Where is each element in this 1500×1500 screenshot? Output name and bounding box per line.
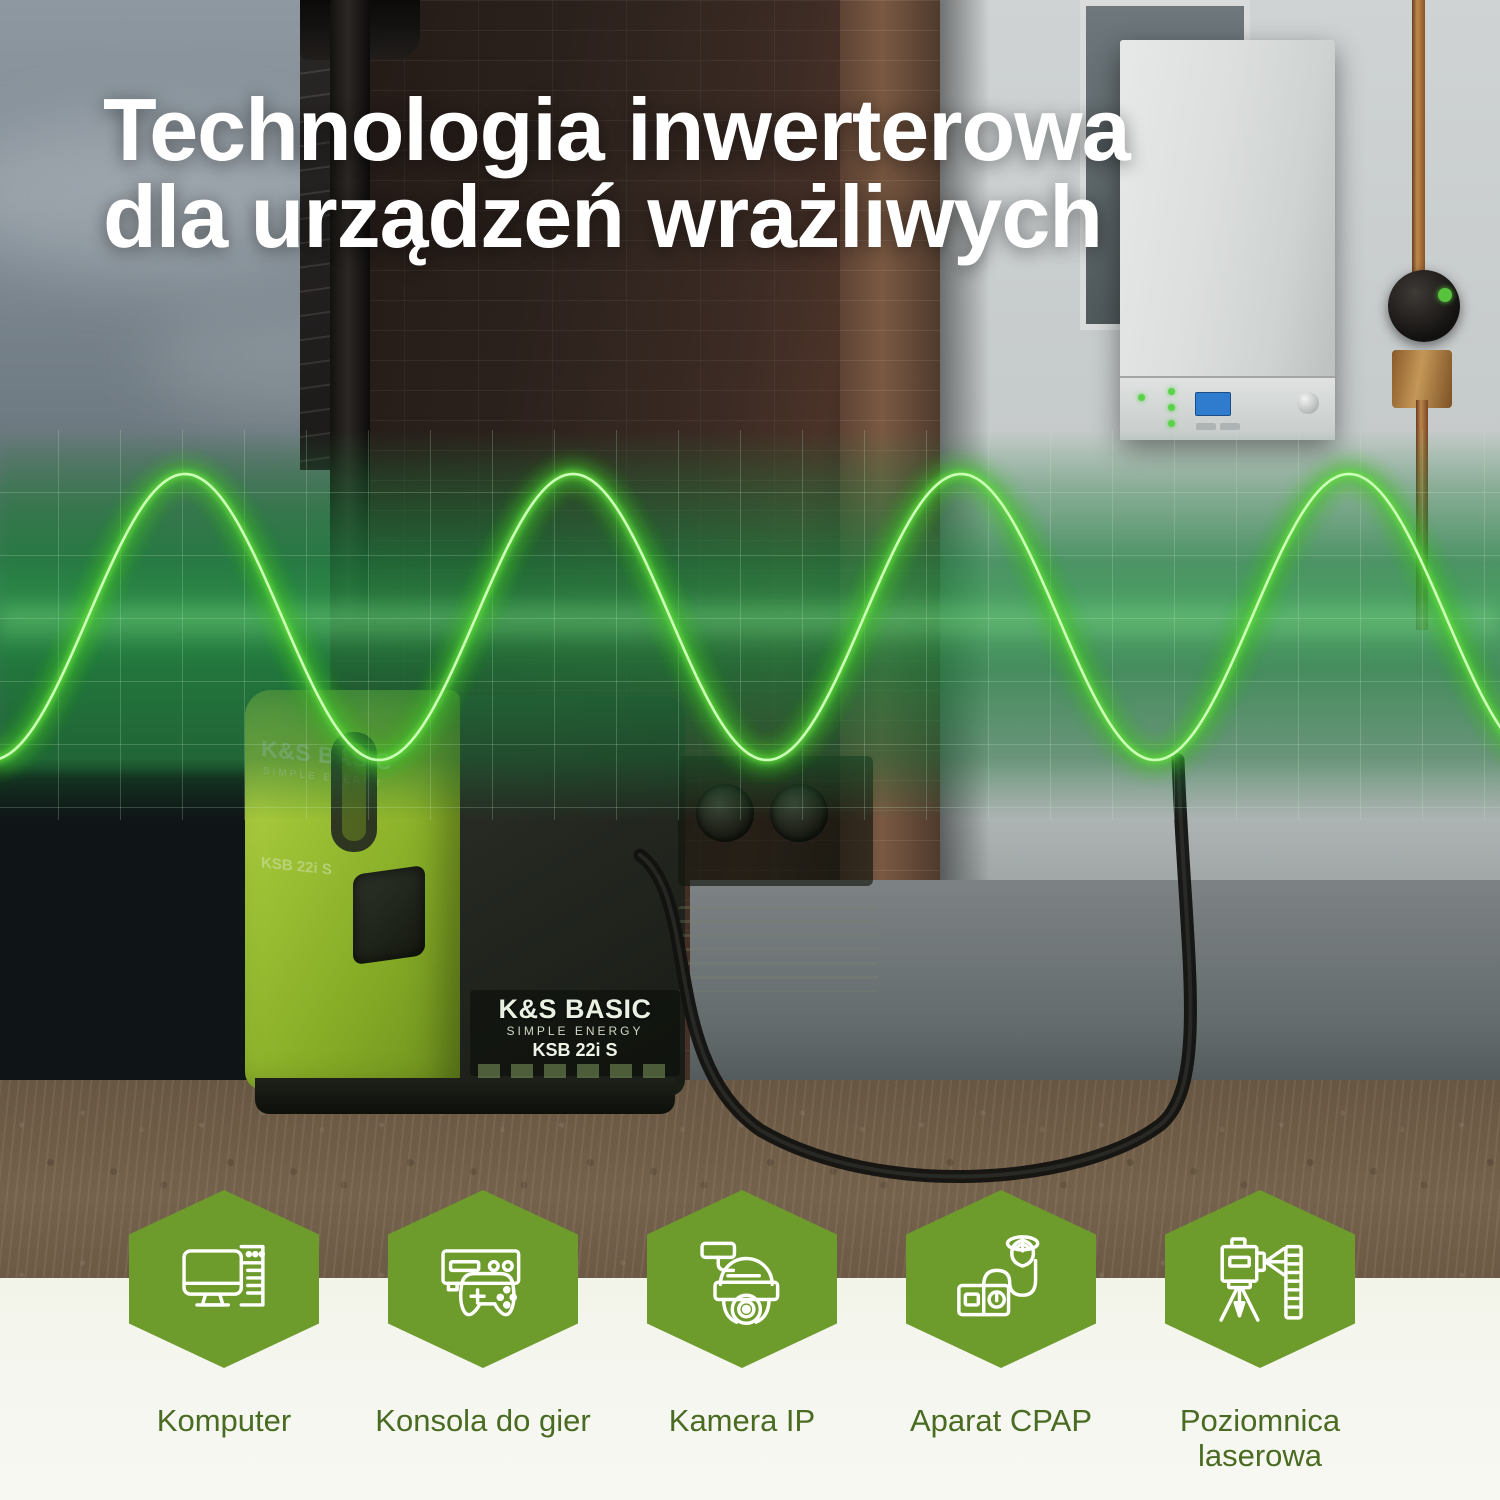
generator-nameplate: K&S BASIC SIMPLE ENERGY KSB 22i S	[470, 990, 680, 1076]
generator-brand: K&S BASIC	[470, 994, 680, 1025]
generator-model: KSB 22i S	[470, 1040, 680, 1061]
device-label: Aparat CPAP	[891, 1404, 1111, 1439]
hexagon-badge	[129, 1190, 319, 1368]
generator-side-model: KSB 22i S	[261, 854, 332, 878]
laser-level-tripod-icon	[1206, 1225, 1314, 1333]
cpap-machine-icon	[947, 1225, 1055, 1333]
device-icon-row: Komputer	[0, 1190, 1500, 1500]
device-label: Komputer	[114, 1404, 334, 1439]
generator-vents	[678, 906, 878, 992]
poster-root: K&S BASIC SIMPLE ENERGY KSB 22i S K&S BA…	[0, 0, 1500, 1500]
generator-grip	[353, 865, 425, 965]
valve-indicator	[1438, 288, 1452, 302]
page-title: Technologia inwerterowa dla urządzeń wra…	[103, 86, 1303, 260]
generator-tagline: SIMPLE ENERGY	[470, 1024, 680, 1038]
device-item-kamera[interactable]: Kamera IP	[647, 1190, 837, 1439]
hexagon-badge	[906, 1190, 1096, 1368]
device-label: Kamera IP	[632, 1404, 852, 1439]
sine-wave-graph	[0, 400, 1500, 850]
device-label: Konsola do gier	[373, 1404, 593, 1439]
device-item-konsola[interactable]: Konsola do gier	[388, 1190, 578, 1439]
sine-wave-path	[0, 474, 1500, 760]
device-item-komputer[interactable]: Komputer	[129, 1190, 319, 1439]
dome-security-camera-icon	[688, 1225, 796, 1333]
device-item-poziomnica[interactable]: Poziomnica laserowa	[1165, 1190, 1355, 1473]
game-console-gamepad-icon	[429, 1225, 537, 1333]
hexagon-badge	[1165, 1190, 1355, 1368]
pump-valve	[1388, 270, 1460, 342]
hexagon-badge	[647, 1190, 837, 1368]
hexagon-badge	[388, 1190, 578, 1368]
desktop-computer-icon	[170, 1225, 278, 1333]
generator-base	[255, 1078, 675, 1114]
device-item-cpap[interactable]: Aparat CPAP	[906, 1190, 1096, 1439]
device-label: Poziomnica laserowa	[1150, 1404, 1370, 1473]
boiler-led	[1168, 388, 1175, 395]
